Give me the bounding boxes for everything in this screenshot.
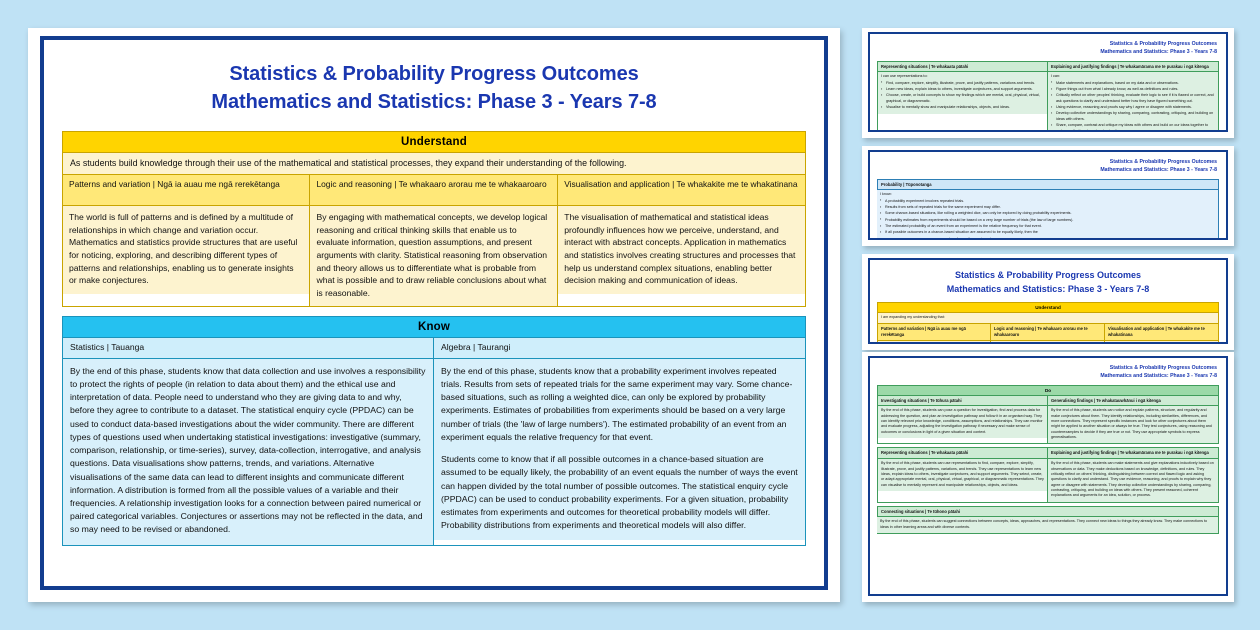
page-root: Statistics & Probability Progress Outcom… (0, 0, 1260, 630)
thumbnail-3-title: Statistics & Probability Progress Outcom… (877, 265, 1219, 302)
thumbnail-1-col-1-body-cell: I can use representations to: Find, comp… (877, 72, 1048, 132)
thumbnail-4-connecting-body: By the end of this phase, students can s… (877, 517, 1218, 533)
thumbnail-3-band-label: Understand (877, 302, 1219, 313)
thumbnail-3-col-2-head: Logic and reasoning | Te whakaaro arorau… (991, 324, 1104, 339)
understand-heading-row: Patterns and variation | Ngā ia auau me … (62, 175, 806, 206)
thumbnail-4-row2-body: By the end of this phase, students can u… (877, 459, 1219, 503)
understand-col-1-body: The world is full of patterns and is def… (63, 206, 309, 293)
thumbnail-1-col-2-body: I can: Make statements and explanations,… (1048, 72, 1218, 132)
thumbnail-4-r1-c1-head: Investigating situations | Te tūhura pāt… (878, 396, 1047, 406)
thumbnail-4-r1-c1-body-cell: By the end of this phase, students can p… (877, 406, 1048, 444)
thumbnail-4-row1-body: By the end of this phase, students can p… (877, 406, 1219, 444)
list-item: Learn new ideas, explain ideas to others… (881, 87, 1044, 92)
thumbnail-1-body-row: I can use representations to: Find, comp… (877, 72, 1219, 132)
know-col-2-body-cell: By the end of this phase, students know … (434, 359, 806, 546)
understand-col-1-head-cell: Patterns and variation | Ngā ia auau me … (62, 175, 310, 206)
know-col-2-paragraph-2: Students come to know that if all possib… (441, 453, 798, 532)
thumbnail-2-body-cell: I know: A probability experiment involve… (877, 190, 1219, 240)
know-band-label: Know (62, 316, 806, 338)
thumbnail-4-connecting-head: Connecting situations | Te tūhono pātahi (878, 507, 1218, 517)
thumbnail-3-col-1-body-cell: There are patterns in the world that we … (877, 341, 991, 344)
know-col-1-head: Statistics | Tauanga (63, 338, 433, 358)
list-item: Develop collective understandings by sha… (1051, 111, 1215, 122)
thumbnail-3-intro: I am expanding my understanding that: (878, 313, 1218, 323)
know-col-1-paragraph-1: By the end of this phase, students know … (70, 365, 426, 537)
thumbnail-2-band-label: Probability | Tūponotanga (878, 180, 1218, 190)
know-col-1-body-cell: By the end of this phase, students know … (62, 359, 434, 546)
thumbnail-card-1[interactable]: Statistics & Probability Progress Outcom… (862, 28, 1234, 138)
thumbnail-3-col-3-head: Visualisation and application | Te whaka… (1105, 324, 1218, 339)
list-item: Find, compare, explore, simplify, illust… (881, 81, 1044, 86)
know-col-1-body: By the end of this phase, students know … (63, 359, 433, 545)
understand-intro-text: As students build knowledge through thei… (62, 153, 806, 176)
thumbnail-2-formula-numerator: number of ways the event can happen (940, 237, 1003, 240)
page-title-line-2: Mathematics and Statistics: Phase 3 - Ye… (62, 88, 806, 116)
thumbnail-card-4[interactable]: Statistics & Probability Progress Outcom… (862, 352, 1234, 602)
thumbnail-3-col-2-body-cell: We can use maths to figure things out an… (991, 341, 1105, 344)
thumbnail-2-formula: probability of an event = number of ways… (880, 237, 1215, 240)
know-col-2-body: By the end of this phase, students know … (434, 359, 805, 541)
thumbnail-3-col-3-body-cell: There are special ways of showing maths … (1105, 341, 1219, 344)
thumbnail-1-col-1-lead: I can use representations to: (881, 74, 1044, 79)
thumbnail-4-row2-head: Representing situations | Te whakaata pā… (877, 447, 1219, 459)
thumbnail-3-body-row: There are patterns in the world that we … (877, 341, 1219, 344)
thumbnail-1-col-2-head: Explaining and justifying findings | Te … (1048, 62, 1218, 72)
thumbnail-1-border: Statistics & Probability Progress Outcom… (868, 32, 1228, 132)
know-col-2-head: Algebra | Taurangi (434, 338, 805, 358)
thumbnail-4-r2-c1-body: By the end of this phase, students can u… (878, 459, 1047, 491)
thumbnail-4-r2-c1-body-cell: By the end of this phase, students can u… (877, 459, 1048, 503)
thumbnail-4-title: Statistics & Probability Progress Outcom… (877, 363, 1219, 385)
thumbnail-1-col-2-body-cell: I can: Make statements and explanations,… (1048, 72, 1219, 132)
page-title: Statistics & Probability Progress Outcom… (62, 54, 806, 131)
thumbnail-4-r1-c1-head-cell: Investigating situations | Te tūhura pāt… (877, 396, 1048, 407)
thumbnail-4-border: Statistics & Probability Progress Outcom… (868, 356, 1228, 596)
section-spacer (62, 307, 806, 316)
understand-section: Understand As students build knowledge t… (62, 131, 806, 307)
thumbnail-1-title: Statistics & Probability Progress Outcom… (877, 39, 1219, 61)
understand-col-2-body-cell: By engaging with mathematical concepts, … (310, 206, 558, 307)
thumbnail-1-col-1-head: Representing situations | Te whakaata pā… (878, 62, 1047, 72)
list-item: Results from sets of repeated trials for… (880, 205, 1215, 210)
thumbnail-3-border: Statistics & Probability Progress Outcom… (868, 258, 1228, 344)
thumbnail-4-r1-c2-head: Generalising findings | Te whakatauwhānu… (1048, 396, 1218, 406)
thumbnail-3-col-1-head-cell: Patterns and variation | Ngā ia auau me … (877, 324, 991, 340)
thumbnail-3-col-2-body: We can use maths to figure things out an… (991, 341, 1104, 344)
thumbnail-2-lead: I know: (880, 192, 1215, 197)
thumbnail-4-r2-c2-body: By the end of this phase, students can m… (1048, 459, 1218, 502)
thumbnail-4-r1-c2-head-cell: Generalising findings | Te whakatauwhānu… (1048, 396, 1219, 407)
thumbnail-1-col-2-lead: I can: (1051, 74, 1215, 79)
thumbnail-4-r2-c1-head-cell: Representing situations | Te whakaata pā… (877, 447, 1048, 459)
understand-col-2-head: Logic and reasoning | Te whakaaro arorau… (310, 175, 557, 205)
thumbnail-2-title-line-1: Statistics & Probability Progress Outcom… (877, 159, 1217, 167)
thumbnail-2-band-cell: Probability | Tūponotanga (877, 179, 1219, 191)
list-item: Make statements and explanations, based … (1051, 81, 1215, 86)
thumbnail-4-title-line-2: Mathematics and Statistics: Phase 3 - Ye… (877, 373, 1217, 381)
thumbnail-2-title-line-2: Mathematics and Statistics: Phase 3 - Ye… (877, 167, 1217, 175)
understand-col-1-body-cell: The world is full of patterns and is def… (62, 206, 310, 307)
thumbnail-4-r1-c2-body: By the end of this phase, students can n… (1048, 406, 1218, 443)
thumbnail-1-col-2-head-cell: Explaining and justifying findings | Te … (1048, 61, 1219, 73)
thumbnail-4-r2-c2-head-cell: Explaining and justifying findings | Te … (1048, 447, 1219, 459)
thumbnail-4-band-label: Do (877, 385, 1219, 396)
thumbnail-3-title-line-1: Statistics & Probability Progress Outcom… (877, 269, 1219, 283)
know-col-2-paragraph-1: By the end of this phase, students know … (441, 365, 798, 444)
thumbnail-1-title-line-2: Mathematics and Statistics: Phase 3 - Ye… (877, 49, 1217, 57)
thumbnail-4-title-line-1: Statistics & Probability Progress Outcom… (877, 365, 1217, 373)
thumbnail-4-r1-c2-body-cell: By the end of this phase, students can n… (1048, 406, 1219, 444)
thumbnail-1-head-row: Representing situations | Te whakaata pā… (877, 61, 1219, 73)
understand-col-1-head: Patterns and variation | Ngā ia auau me … (63, 175, 309, 205)
thumbnail-2-body: I know: A probability experiment involve… (877, 190, 1218, 240)
know-heading-row: Statistics | Tauanga Algebra | Taurangi (62, 338, 806, 359)
thumbnail-3-col-2-head-cell: Logic and reasoning | Te whakaaro arorau… (991, 324, 1105, 340)
thumbnail-4-r1-c1-body: By the end of this phase, students can p… (878, 406, 1047, 438)
know-body-row: By the end of this phase, students know … (62, 359, 806, 546)
know-section: Know Statistics | Tauanga Algebra | Taur… (62, 316, 806, 545)
thumbnail-3-title-line-2: Mathematics and Statistics: Phase 3 - Ye… (877, 283, 1219, 297)
thumbnail-3-col-1-body: There are patterns in the world that we … (878, 341, 990, 344)
know-col-1-head-cell: Statistics | Tauanga (62, 338, 434, 359)
list-item: Share, compare, contrast and critique my… (1051, 123, 1215, 132)
thumbnail-1-col-1-body: I can use representations to: Find, comp… (878, 72, 1047, 114)
understand-band-label: Understand (62, 131, 806, 153)
thumbnail-2-title: Statistics & Probability Progress Outcom… (877, 157, 1219, 179)
thumbnail-1-col-2-list: Make statements and explanations, based … (1051, 81, 1215, 132)
understand-col-2-head-cell: Logic and reasoning | Te whakaaro arorau… (310, 175, 558, 206)
thumbnail-4-r2-c1-head: Representing situations | Te whakaata pā… (878, 448, 1047, 458)
thumbnail-4-connecting-head-cell: Connecting situations | Te tūhono pātahi (877, 506, 1219, 518)
thumbnail-4-r2-c2-head: Explaining and justifying findings | Te … (1048, 448, 1218, 458)
list-item: A probability experiment involves repeat… (880, 199, 1215, 204)
list-item: If all possible outcomes in a chance-bas… (880, 230, 1215, 235)
list-item: Figure things out from what I already kn… (1051, 87, 1215, 92)
page-title-line-1: Statistics & Probability Progress Outcom… (62, 60, 806, 88)
main-document-border: Statistics & Probability Progress Outcom… (40, 36, 828, 590)
understand-col-3-head-cell: Visualisation and application | Te whaka… (558, 175, 806, 206)
thumbnail-3-col-3-body: There are special ways of showing maths … (1105, 341, 1218, 344)
thumbnail-card-3[interactable]: Statistics & Probability Progress Outcom… (862, 254, 1234, 350)
thumbnail-2-border: Statistics & Probability Progress Outcom… (868, 150, 1228, 240)
main-document-card[interactable]: Statistics & Probability Progress Outcom… (28, 28, 840, 602)
list-item: Choose, create, or build concepts to sho… (881, 93, 1044, 104)
list-item: Critically reflect on other peoples' thi… (1051, 93, 1215, 104)
thumbnail-3-col-3-head-cell: Visualisation and application | Te whaka… (1105, 324, 1219, 340)
understand-body-row: The world is full of patterns and is def… (62, 206, 806, 307)
know-col-2-head-cell: Algebra | Taurangi (434, 338, 806, 359)
thumbnail-3-intro-cell: I am expanding my understanding that: (877, 313, 1219, 324)
thumbnail-4-connecting-body-cell: By the end of this phase, students can s… (877, 517, 1219, 534)
thumbnail-3-head-row: Patterns and variation | Ngā ia auau me … (877, 324, 1219, 340)
understand-col-2-body: By engaging with mathematical concepts, … (310, 206, 557, 306)
list-item: Probability estimates from experiments s… (880, 218, 1215, 223)
thumbnail-1-title-line-1: Statistics & Probability Progress Outcom… (877, 41, 1217, 49)
thumbnail-1-col-1-head-cell: Representing situations | Te whakaata pā… (877, 61, 1048, 73)
thumbnail-card-2[interactable]: Statistics & Probability Progress Outcom… (862, 146, 1234, 246)
list-item: The estimated probability of an event fr… (880, 224, 1215, 229)
understand-col-3-head: Visualisation and application | Te whaka… (558, 175, 805, 205)
understand-col-3-body-cell: The visualisation of mathematical and st… (558, 206, 806, 307)
understand-col-3-body: The visualisation of mathematical and st… (558, 206, 805, 293)
thumbnail-2-formula-fraction: number of ways the event can happen tota… (940, 237, 1003, 240)
list-item: Using evidence, reasoning and proofs say… (1051, 105, 1215, 110)
thumbnail-1-col-1-list: Find, compare, explore, simplify, illust… (881, 81, 1044, 111)
thumbnail-2-list: A probability experiment involves repeat… (880, 199, 1215, 236)
list-item: Visualise to mentally show and manipulat… (881, 105, 1044, 110)
thumbnail-4-r2-c2-body-cell: By the end of this phase, students can m… (1048, 459, 1219, 503)
thumbnail-4-row1-head: Investigating situations | Te tūhura pāt… (877, 396, 1219, 407)
thumbnail-3-col-1-head: Patterns and variation | Ngā ia auau me … (878, 324, 990, 339)
list-item: Some chance-based situations, like rolli… (880, 211, 1215, 216)
